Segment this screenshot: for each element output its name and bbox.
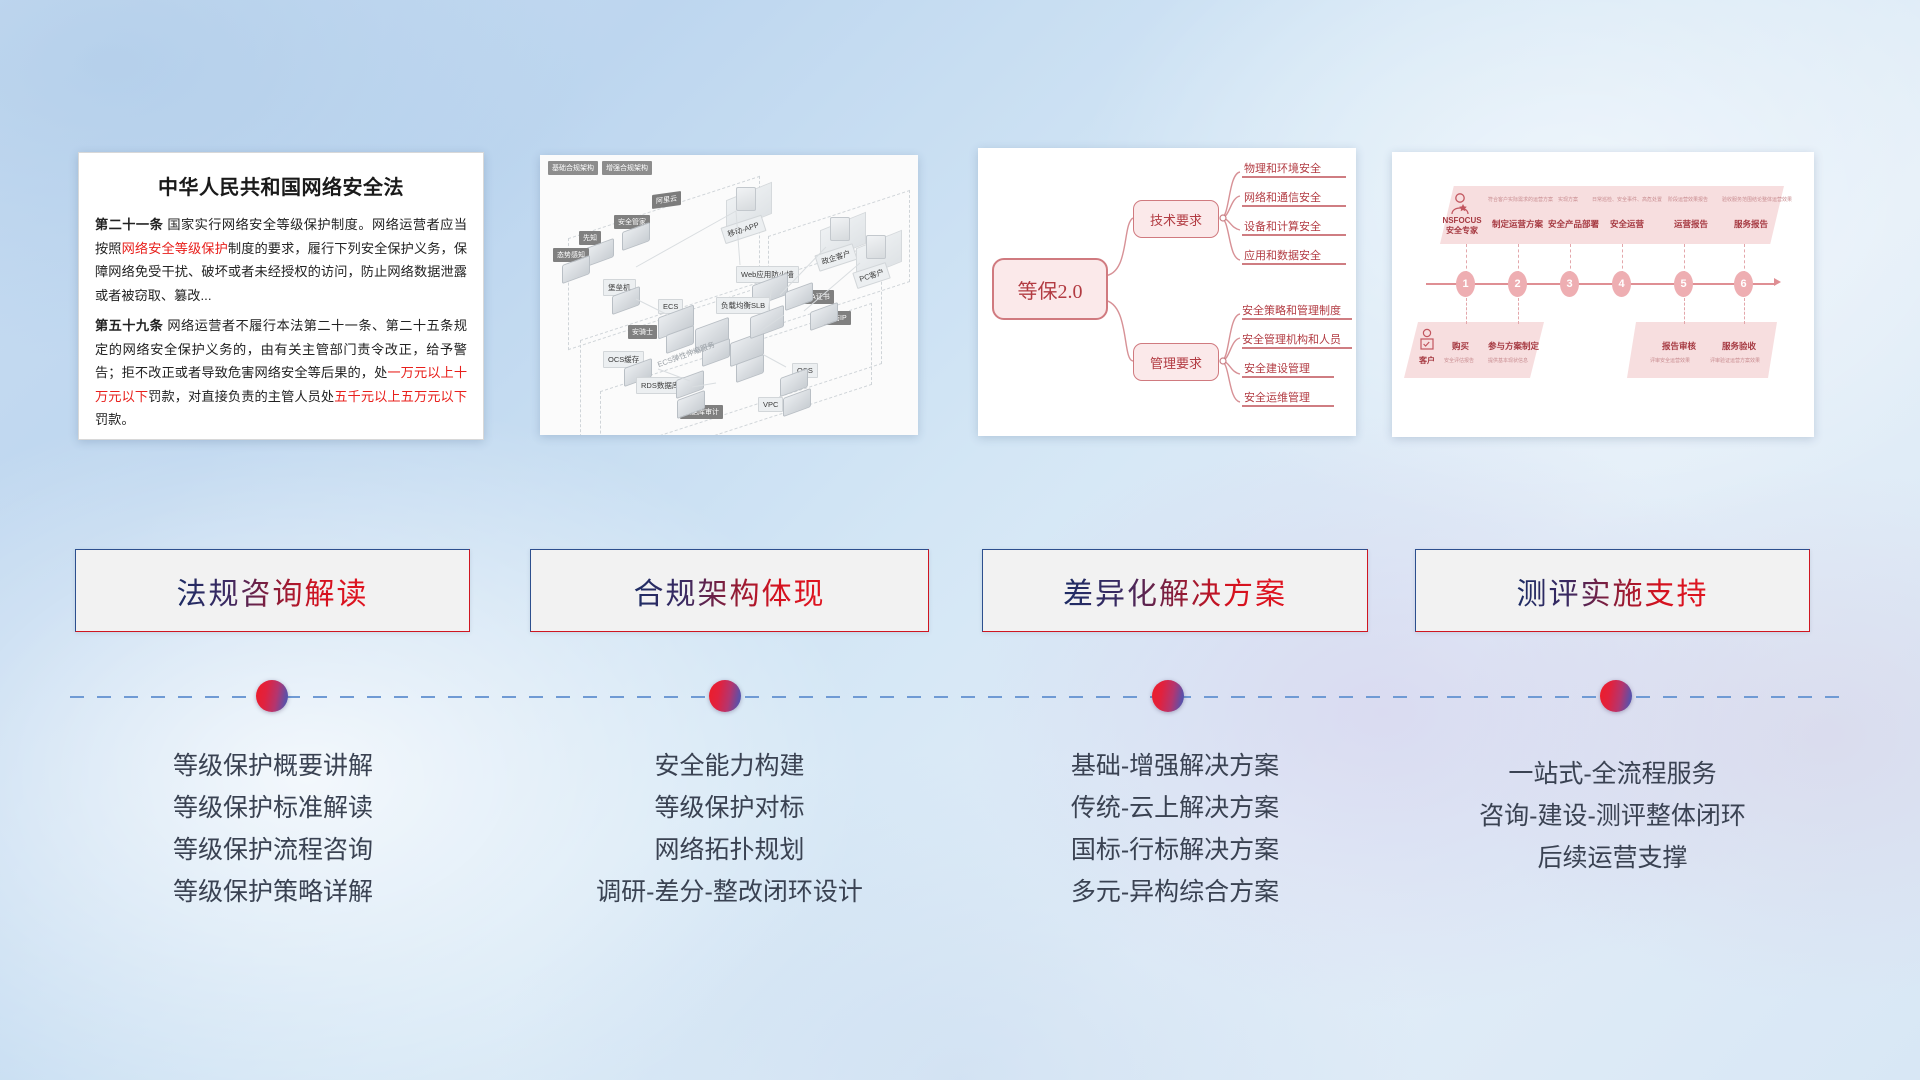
mindmap-leaf: 设备和计算安全	[1244, 218, 1321, 234]
card-compliance-architecture[interactable]: 基础合规架构 增强合规架构 阿里云 安全管家 先知 态势感知 堡垒机 ECS	[540, 155, 918, 435]
customer-step-label: 参与方案制定	[1488, 340, 1539, 352]
list-item: 网络拓扑规划	[530, 829, 929, 871]
mindmap-leaf: 安全运维管理	[1244, 389, 1310, 405]
list-item: 等级保护流程咨询	[75, 829, 471, 871]
law-highlight-text: 网络安全等级保护	[122, 241, 228, 256]
law-title: 中华人民共和国网络安全法	[95, 171, 467, 200]
label-box-regulation-consulting[interactable]: 法规咨询解读	[75, 549, 470, 632]
mindmap-leaf: 应用和数据安全	[1244, 247, 1321, 263]
timeline-step-sub: 阶段运营效果报告	[1668, 196, 1708, 203]
timeline-dashed-line	[70, 696, 1850, 698]
nsfocus-customer-label: 客户	[1412, 355, 1442, 366]
list-item: 等级保护策略详解	[75, 871, 471, 913]
law-text: 罚款，对直接负责的主管人员处	[148, 389, 334, 404]
list-item: 多元-异构综合方案	[982, 871, 1368, 913]
list-item: 等级保护概要讲解	[75, 745, 471, 787]
mindmap-root: 等保2.0	[992, 258, 1108, 320]
list-item: 安全能力构建	[530, 745, 929, 787]
label-box-text: 测评实施支持	[1517, 569, 1709, 613]
feature-column-3: 基础-增强解决方案 传统-云上解决方案 国标-行标解决方案 多元-异构综合方案	[982, 745, 1368, 913]
arch-node-vpc: VPC	[758, 397, 783, 412]
customer-step-label: 服务验收	[1722, 340, 1756, 352]
customer-step-sub: 提供基本现状信息	[1488, 357, 1528, 364]
timeline-step-label: 安全运营	[1610, 218, 1644, 230]
nsfocus-expert-label-1: NSFOCUS	[1438, 216, 1486, 226]
law-article-number: 第二十一条	[95, 217, 163, 232]
feature-column-1: 等级保护概要讲解 等级保护标准解读 等级保护流程咨询 等级保护策略详解	[75, 745, 471, 913]
law-paragraph: 第二十一条 国家实行网络安全等级保护制度。网络运营者应当按照网络安全等级保护制度…	[95, 213, 467, 307]
list-item: 咨询-建设-测评整体闭环	[1415, 795, 1810, 837]
arch-node-slb: 负载均衡SLB	[716, 297, 770, 314]
timeline-step-label: 制定运营方案	[1492, 218, 1543, 230]
label-box-assessment-support[interactable]: 测评实施支持	[1415, 549, 1810, 632]
label-box-text: 合规架构体现	[634, 569, 826, 613]
timeline-step-label: 服务报告	[1734, 218, 1768, 230]
customer-step-sub: 安全评估报告	[1444, 357, 1474, 364]
mindmap-branch-management: 管理要求	[1133, 343, 1219, 381]
timeline-step-sub: 实现方案	[1558, 196, 1578, 203]
label-box-compliance-architecture[interactable]: 合规架构体现	[530, 549, 929, 632]
label-box-text: 法规咨询解读	[177, 569, 369, 613]
timeline-step-sub: 验收服务范围结论整体运营效果	[1722, 196, 1792, 203]
timeline-node-3[interactable]	[1152, 680, 1184, 712]
architecture-diagram: 基础合规架构 增强合规架构 阿里云 安全管家 先知 态势感知 堡垒机 ECS	[540, 155, 918, 435]
card-dengbao-mindmap[interactable]: 等保2.0 技术要求 管理要求 物理和环境安全 网络和通信安全 设备和计算安全 …	[978, 148, 1356, 436]
law-article-number: 第五十九条	[95, 318, 163, 333]
list-item: 国标-行标解决方案	[982, 829, 1368, 871]
mindmap-leaf: 物理和环境安全	[1244, 160, 1321, 176]
law-body: 第二十一条 国家实行网络安全等级保护制度。网络运营者应当按照网络安全等级保护制度…	[95, 213, 467, 432]
label-box-text: 差异化解决方案	[1063, 569, 1287, 613]
customer-step-label: 购买	[1452, 340, 1469, 352]
timeline-step-dot: 1	[1456, 271, 1475, 297]
list-item: 等级保护标准解读	[75, 787, 471, 829]
list-item: 传统-云上解决方案	[982, 787, 1368, 829]
timeline-step-label: 安全产品部署	[1548, 218, 1599, 230]
timeline-step-dot: 3	[1560, 271, 1579, 297]
timeline-step-label: 运营报告	[1674, 218, 1708, 230]
timeline-node-2[interactable]	[709, 680, 741, 712]
mindmap: 等保2.0 技术要求 管理要求 物理和环境安全 网络和通信安全 设备和计算安全 …	[978, 148, 1356, 436]
timeline-step-dot: 4	[1612, 271, 1631, 297]
timeline-step-sub: 日常巡检、安全事件、高危处置	[1592, 196, 1662, 203]
arch-tag-enhanced: 增强合规架构	[602, 161, 652, 175]
feature-column-4: 一站式-全流程服务 咨询-建设-测评整体闭环 后续运营支撑	[1415, 753, 1810, 879]
nsfocus-expert-label-2: 安全专家	[1438, 226, 1486, 236]
timeline-step-dot: 5	[1674, 271, 1693, 297]
timeline-node-4[interactable]	[1600, 680, 1632, 712]
law-highlight-text: 五千元以上五万元以下	[334, 389, 467, 404]
card-nsfocus-service-flow[interactable]: NSFOCUS 安全专家 客户 1	[1392, 152, 1814, 437]
law-text: 罚款。	[95, 412, 135, 427]
mindmap-leaf: 安全策略和管理制度	[1242, 302, 1341, 318]
customer-step-label: 报告审核	[1662, 340, 1696, 352]
list-item: 等级保护对标	[530, 787, 929, 829]
customer-step-sub: 评审安全运营效果	[1650, 357, 1690, 364]
mindmap-leaf: 安全建设管理	[1244, 360, 1310, 376]
list-item: 一站式-全流程服务	[1415, 753, 1810, 795]
list-item: 后续运营支撑	[1415, 837, 1810, 879]
timeline-step-dot: 2	[1508, 271, 1527, 297]
feature-column-2: 安全能力构建 等级保护对标 网络拓扑规划 调研-差分-整改闭环设计	[530, 745, 929, 913]
nsfocus-timeline: NSFOCUS 安全专家 客户 1	[1392, 152, 1814, 437]
label-box-differentiated-solution[interactable]: 差异化解决方案	[982, 549, 1368, 632]
list-item: 基础-增强解决方案	[982, 745, 1368, 787]
list-item: 调研-差分-整改闭环设计	[530, 871, 929, 913]
timeline-step-sub: 符合客户实际需求的运营方案	[1488, 196, 1553, 203]
mindmap-leaf: 安全管理机构和人员	[1242, 331, 1341, 347]
mindmap-leaf: 网络和通信安全	[1244, 189, 1321, 205]
card-cybersecurity-law[interactable]: 中华人民共和国网络安全法 第二十一条 国家实行网络安全等级保护制度。网络运营者应…	[78, 152, 484, 440]
law-paragraph: 第五十九条 网络运营者不履行本法第二十一条、第二十五条规定的网络安全保护义务的，…	[95, 314, 467, 432]
mindmap-branch-technical: 技术要求	[1133, 200, 1219, 238]
timeline-step-dot: 6	[1734, 271, 1753, 297]
customer-step-sub: 评审验证运营方案效果	[1710, 357, 1760, 364]
arch-node-anqishi: 安骑士	[628, 325, 657, 339]
arch-tag-basic: 基础合规架构	[548, 161, 598, 175]
timeline-node-1[interactable]	[256, 680, 288, 712]
